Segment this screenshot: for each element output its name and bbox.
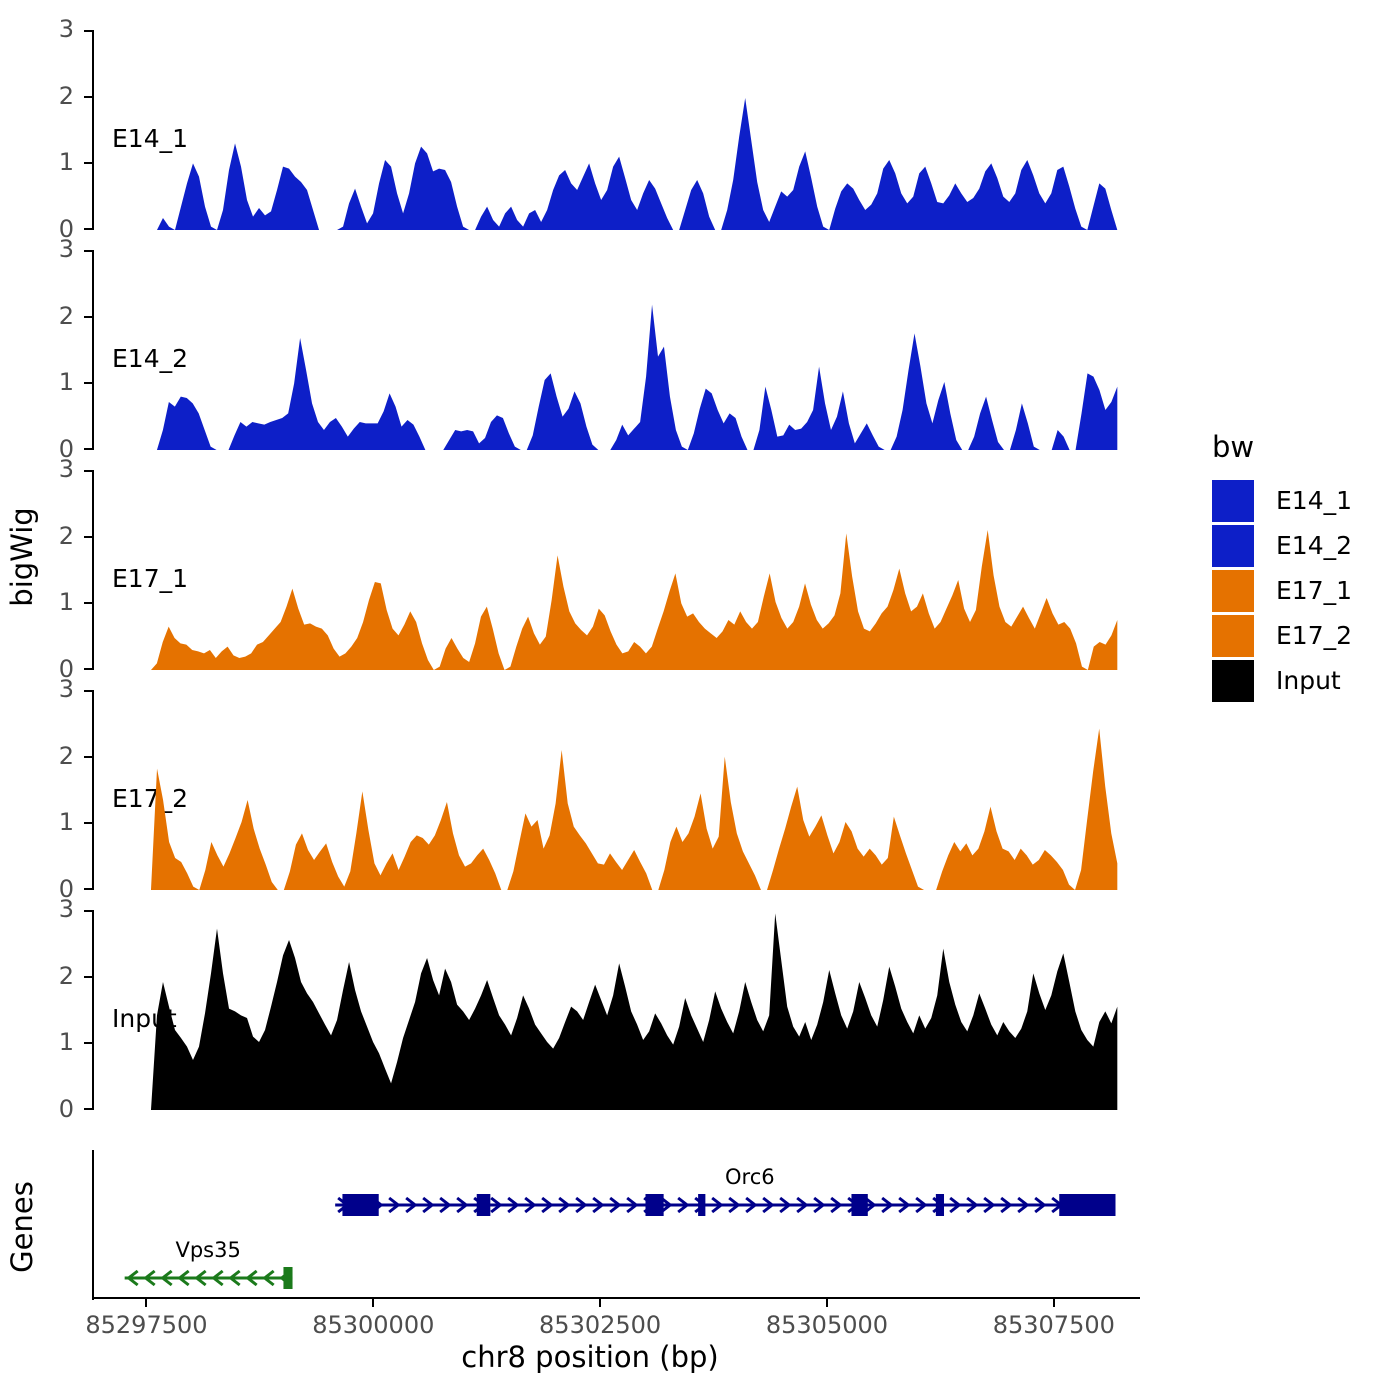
gene-exon-box (1059, 1194, 1115, 1216)
legend-item-e17_1[interactable]: E17_1 (1212, 568, 1352, 613)
gene-label-orc6: Orc6 (725, 1165, 775, 1189)
track-area-e17_2 (0, 690, 1180, 890)
track-panel-e14_2: 0123E14_2 (0, 250, 1180, 450)
legend: bw E14_1E14_2E17_1E17_2Input (1212, 430, 1352, 703)
x-axis-line (92, 1297, 1140, 1299)
legend-item-e14_1[interactable]: E14_1 (1212, 478, 1352, 523)
x-tick-mark (826, 1299, 828, 1307)
legend-label: E14_2 (1276, 531, 1352, 560)
legend-item-e14_2[interactable]: E14_2 (1212, 523, 1352, 568)
x-tick-label: 85307500 (964, 1313, 1144, 1337)
legend-swatch-e14_1 (1212, 480, 1254, 522)
track-area-e17_1 (0, 470, 1180, 670)
gene-exon-box (936, 1194, 944, 1216)
legend-swatch-e14_2 (1212, 525, 1254, 567)
track-area-e14_2 (0, 250, 1180, 450)
legend-label: E17_1 (1276, 576, 1352, 605)
legend-title: bw (1212, 430, 1352, 464)
x-tick-label: 85297500 (56, 1313, 236, 1337)
track-panel-e14_1: 0123E14_1 (0, 30, 1180, 230)
legend-item-input[interactable]: Input (1212, 658, 1352, 703)
genes-svg (0, 1150, 1180, 1300)
legend-item-e17_2[interactable]: E17_2 (1212, 613, 1352, 658)
x-tick-label: 85305000 (737, 1313, 917, 1337)
legend-label: Input (1276, 666, 1341, 695)
track-panel-e17_2: 0123E17_2 (0, 690, 1180, 890)
gene-exon-box (698, 1194, 705, 1216)
legend-label: E14_1 (1276, 486, 1352, 515)
gene-exon-box (477, 1194, 491, 1216)
legend-swatch-input (1212, 660, 1254, 702)
x-tick-mark (1053, 1299, 1055, 1307)
gene-label-vps35: Vps35 (175, 1238, 240, 1262)
x-axis-title: chr8 position (bp) (0, 1340, 1180, 1374)
genes-panel: Orc6Vps35 (0, 1150, 1180, 1300)
x-tick-mark (372, 1299, 374, 1307)
gene-exon-box (645, 1194, 663, 1216)
legend-swatch-e17_2 (1212, 615, 1254, 657)
track-area-input (0, 910, 1180, 1110)
x-tick-label: 85302500 (510, 1313, 690, 1337)
x-tick-label: 85300000 (283, 1313, 463, 1337)
track-panel-input: 0123Input (0, 910, 1180, 1110)
x-tick-mark (145, 1299, 147, 1307)
legend-swatch-e17_1 (1212, 570, 1254, 612)
x-tick-mark (599, 1299, 601, 1307)
legend-label: E17_2 (1276, 621, 1352, 650)
gene-exon-box (851, 1194, 867, 1216)
legend-items: E14_1E14_2E17_1E17_2Input (1212, 478, 1352, 703)
gene-exon-box (342, 1194, 378, 1216)
track-panel-e17_1: 0123E17_1 (0, 470, 1180, 670)
track-area-e14_1 (0, 30, 1180, 230)
gene-exon-box (283, 1267, 292, 1289)
